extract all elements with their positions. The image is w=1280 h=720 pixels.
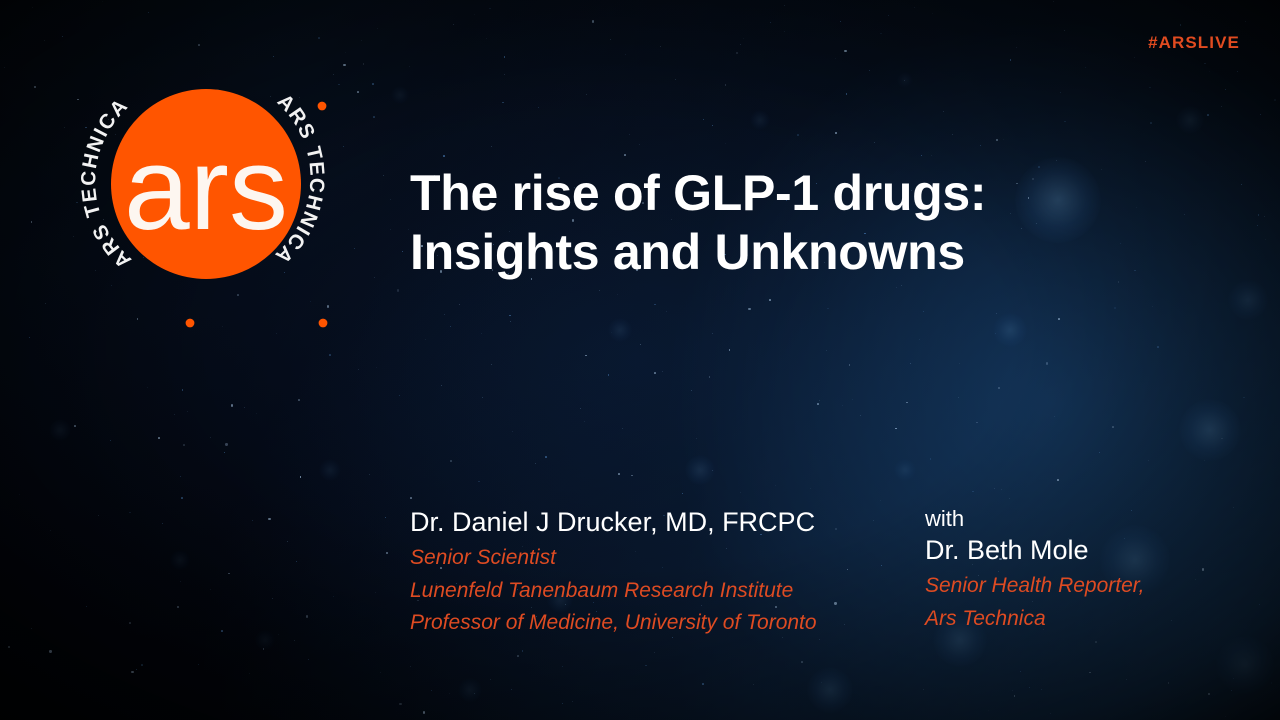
speaker-primary-roles: Senior Scientist Lunenfeld Tanenbaum Res… bbox=[410, 542, 925, 641]
speakers-block: Dr. Daniel J Drucker, MD, FRCPC Senior S… bbox=[410, 505, 1240, 640]
speaker-primary: Dr. Daniel J Drucker, MD, FRCPC Senior S… bbox=[410, 505, 925, 640]
speaker-host-role-1: Senior Health Reporter, bbox=[925, 570, 1225, 603]
speaker-primary-role-2: Lunenfeld Tanenbaum Research Institute bbox=[410, 575, 925, 608]
speaker-host: with Dr. Beth Mole Senior Health Reporte… bbox=[925, 505, 1225, 636]
page-title-line-1: The rise of GLP-1 drugs: bbox=[410, 164, 1110, 223]
event-hashtag: #ARSLIVE bbox=[1148, 33, 1240, 53]
logo-dot-icon bbox=[319, 319, 328, 328]
speaker-primary-role-1: Senior Scientist bbox=[410, 542, 925, 575]
ars-technica-live-logo: LIVE LIVE ARS TECHNICA ARS TECHNICA ars bbox=[60, 26, 350, 336]
speaker-primary-name: Dr. Daniel J Drucker, MD, FRCPC bbox=[410, 505, 925, 540]
page-title: The rise of GLP-1 drugs: Insights and Un… bbox=[410, 164, 1110, 282]
logo-dot-icon bbox=[186, 319, 195, 328]
presentation-title-slide: #ARSLIVE LIVE LIVE ARS TECHNICA bbox=[0, 0, 1280, 720]
page-title-line-2: Insights and Unknowns bbox=[410, 223, 1110, 282]
logo-wordmark: ars bbox=[124, 123, 288, 255]
speaker-host-with-label: with bbox=[925, 505, 1225, 533]
speaker-host-role-2: Ars Technica bbox=[925, 603, 1225, 636]
speaker-host-name: Dr. Beth Mole bbox=[925, 533, 1225, 568]
speaker-host-roles: Senior Health Reporter, Ars Technica bbox=[925, 570, 1225, 636]
speaker-primary-role-3: Professor of Medicine, University of Tor… bbox=[410, 607, 925, 640]
logo-dot-icon bbox=[318, 102, 327, 111]
